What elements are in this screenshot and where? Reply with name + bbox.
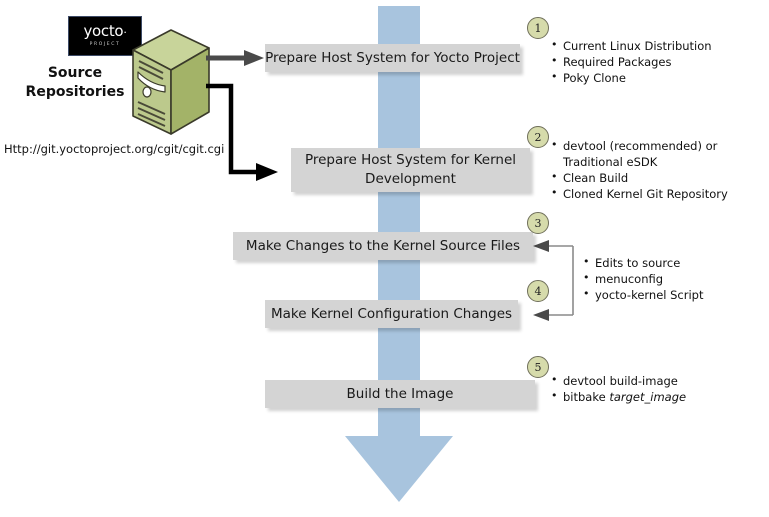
connector-server-to-step1 [206, 50, 264, 66]
list-item: devtool (recommended) or Traditional eSD… [551, 138, 766, 170]
list-item: bitbake target_image [551, 389, 761, 405]
connector-server-to-step2 [206, 86, 278, 181]
target-image-variable: target_image [609, 390, 686, 404]
step-5-box[interactable]: Build the Image [265, 380, 535, 408]
list-item: Cloned Kernel Git Repository [551, 186, 766, 202]
diagram-canvas: yocto· PROJECT Source Repositories Http:… [0, 0, 769, 517]
list-item: devtool build-image [551, 373, 761, 389]
list-item: Required Packages [551, 54, 761, 70]
steps-3-4-bullets: Edits to source menuconfig yocto-kernel … [583, 255, 763, 303]
list-item-line1: devtool (recommended) or [563, 139, 717, 153]
list-item: menuconfig [583, 271, 763, 287]
list-item: Poky Clone [551, 70, 761, 86]
step-marker-1: 1 [527, 17, 549, 39]
step-2-box[interactable]: Prepare Host System for Kernel Developme… [291, 148, 530, 192]
step-4-box[interactable]: Make Kernel Configuration Changes [265, 300, 518, 328]
step-2-box-line2: Development [305, 170, 516, 189]
list-item: Edits to source [583, 255, 763, 271]
list-item: Clean Build [551, 170, 766, 186]
step-marker-5: 5 [527, 356, 549, 378]
list-item: yocto-kernel Script [583, 287, 763, 303]
list-item-line2: Traditional eSDK [563, 154, 766, 170]
step-1-bullets: Current Linux Distribution Required Pack… [551, 38, 761, 86]
step-5-bullets: devtool build-image bitbake target_image [551, 373, 761, 405]
step-3-box[interactable]: Make Changes to the Kernel Source Files [233, 232, 533, 260]
bitbake-command: bitbake [563, 390, 609, 404]
step-marker-3: 3 [527, 212, 549, 234]
list-item: Current Linux Distribution [551, 38, 761, 54]
step-2-bullets: devtool (recommended) or Traditional eSD… [551, 138, 766, 202]
step-2-box-line1: Prepare Host System for Kernel [305, 151, 516, 170]
step-marker-4: 4 [527, 280, 549, 302]
step-marker-2: 2 [527, 126, 549, 148]
step-1-box[interactable]: Prepare Host System for Yocto Project [265, 44, 520, 72]
